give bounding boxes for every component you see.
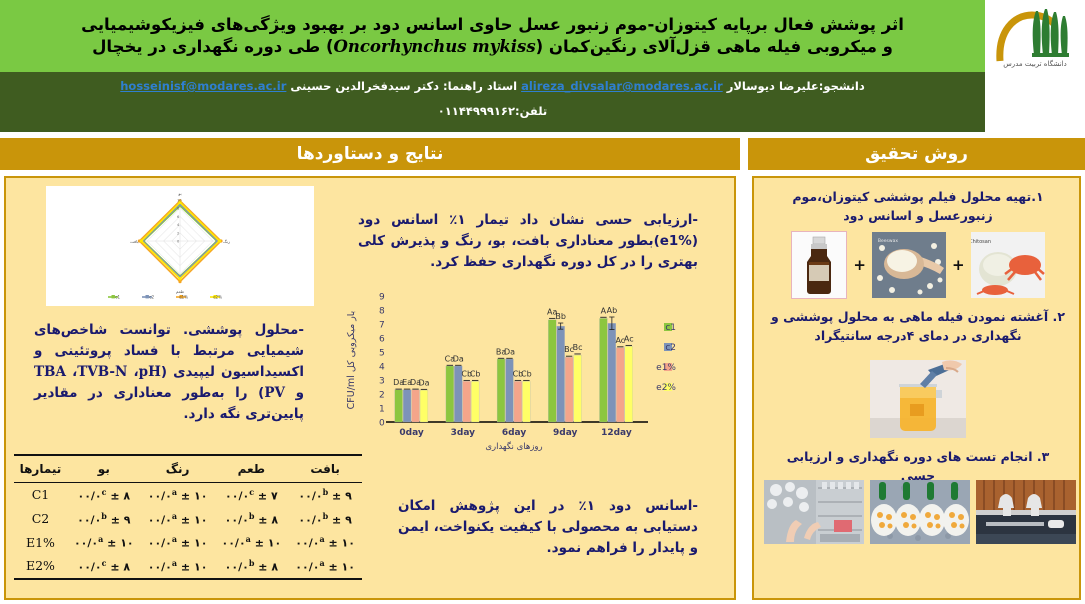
microbial-load-bar-chart: 0123456789 DaEaDaDaCaDaCbCbBaDaCbCbAaBbB… bbox=[342, 286, 734, 466]
cell-treatment: C2 bbox=[14, 507, 67, 531]
svg-text:Chitosan: Chitosan bbox=[971, 239, 991, 245]
chem-sep-1: ، bbox=[127, 364, 138, 380]
svg-text:c1: c1 bbox=[665, 323, 676, 333]
lab-microbiology-photo bbox=[764, 480, 864, 544]
bar-chart-legend: c1c2e1%e2% bbox=[656, 323, 676, 393]
cell-color: ۱۰ ± ۰۰/۰a bbox=[141, 530, 215, 554]
cell-texture-superscript: a bbox=[319, 534, 324, 544]
cell-taste-superscript: a bbox=[246, 534, 251, 544]
chem-param-tba: TBA bbox=[34, 362, 66, 383]
cell-taste: ۱۰ ± ۰۰/۰a bbox=[214, 530, 288, 554]
sensory-scores-table: بافت طعم رنگ بو تیمارها ۹ ± ۰۰/۰b۷ ± ۰۰/… bbox=[14, 454, 362, 580]
smoke-essence-bottle-photo bbox=[791, 231, 847, 299]
chem-param-pv: PV bbox=[264, 383, 285, 404]
svg-text:2: 2 bbox=[177, 231, 179, 235]
svg-text:Beeswax: Beeswax bbox=[878, 238, 898, 244]
phone-row: تلفن:۰۱۱۴۴۹۹۹۱۶۲ bbox=[0, 104, 985, 118]
cell-odor: ۹ ± ۰۰/۰b bbox=[67, 507, 141, 531]
cell-treatment: C1 bbox=[14, 483, 67, 507]
table-head: بافت طعم رنگ بو تیمارها bbox=[14, 455, 362, 483]
cell-color-superscript: a bbox=[172, 487, 177, 497]
authors-row: دانشجو:علیرضا دیوسالار alireza_divsalar@… bbox=[0, 78, 985, 95]
svg-text:5: 5 bbox=[379, 349, 385, 359]
species-name: Oncorhynchus mykiss bbox=[334, 37, 536, 56]
cell-color-superscript: a bbox=[172, 511, 177, 521]
method-step-1-text: ۱.تهیه محلول فیلم پوششی کیتوزان،موم زنبو… bbox=[768, 188, 1068, 226]
cell-taste-superscript: c bbox=[249, 487, 254, 497]
cell-texture-superscript: b bbox=[323, 487, 329, 497]
cell-treatment: E2% bbox=[14, 554, 67, 579]
svg-text:0: 0 bbox=[177, 240, 180, 244]
student-label: دانشجو:علیرضا دیوسالار bbox=[727, 79, 865, 93]
cell-treatment: E1% bbox=[14, 530, 67, 554]
cell-texture: ۹ ± ۰۰/۰b bbox=[288, 483, 362, 507]
fish-fillet-coating-beaker-photo bbox=[870, 360, 966, 438]
svg-text:طعم: طعم bbox=[176, 289, 185, 294]
chemical-result-text: -محلول پوششی. توانست شاخص‌های شیمیایی مر… bbox=[34, 320, 304, 425]
sensory-radar-chart-card: بورنگطعمبافت 0246810 c1c2e1%e2% bbox=[46, 186, 314, 306]
cell-odor: ۸ ± ۰۰/۰c bbox=[67, 554, 141, 579]
table-body: ۹ ± ۰۰/۰b۷ ± ۰۰/۰c۱۰ ± ۰۰/۰a۸ ± ۰۰/۰cC1۹… bbox=[14, 483, 362, 579]
svg-text:دانشگاه تربیت مدرس: دانشگاه تربیت مدرس bbox=[1003, 59, 1066, 68]
radar-series-group bbox=[138, 199, 223, 283]
svg-text:Cb: Cb bbox=[470, 369, 481, 378]
svg-text:رنگ: رنگ bbox=[223, 239, 230, 244]
supervisor-email-link[interactable]: hosseinisf@modares.ac.ir bbox=[120, 78, 286, 95]
svg-text:9day: 9day bbox=[553, 428, 578, 438]
method-step-2-text: ۲. آغشته نمودن فیله ماهی به محلول پوششی … bbox=[768, 308, 1068, 346]
svg-text:1: 1 bbox=[379, 405, 385, 415]
svg-text:0day: 0day bbox=[399, 428, 424, 438]
svg-text:Bb: Bb bbox=[555, 312, 566, 321]
plus-sign-1: + bbox=[952, 256, 965, 274]
university-logo: دانشگاه تربیت مدرس bbox=[985, 0, 1085, 72]
sensory-result-text: -ارزیابی حسی نشان داد تیمار ۱٪ اسانس دود… bbox=[358, 210, 698, 273]
cell-odor-superscript: c bbox=[102, 558, 107, 568]
svg-text:3: 3 bbox=[379, 377, 385, 387]
chem-param-tvbn: TVB-N bbox=[77, 362, 127, 383]
table-row: ۱۰ ± ۰۰/۰a۱۰ ± ۰۰/۰a۱۰ ± ۰۰/۰a۱۰ ± ۰۰/۰a… bbox=[14, 530, 362, 554]
chem-sep-3: و bbox=[285, 385, 304, 401]
cell-taste: ۸ ± ۰۰/۰b bbox=[214, 507, 288, 531]
svg-text:c2: c2 bbox=[665, 343, 676, 353]
svg-text:Da: Da bbox=[418, 378, 429, 387]
svg-text:Da: Da bbox=[453, 354, 464, 363]
title-line2-pre: و میکروبی فیله ماهی قزل‌آلای رنگین‌کمان … bbox=[536, 37, 893, 56]
method-step-2-images bbox=[768, 358, 1068, 440]
table-header-row: بافت طعم رنگ بو تیمارها bbox=[14, 455, 362, 483]
cell-color: ۱۰ ± ۰۰/۰a bbox=[141, 507, 215, 531]
cell-texture: ۹ ± ۰۰/۰b bbox=[288, 507, 362, 531]
chem-sep-2: ، bbox=[66, 364, 77, 380]
svg-text:7: 7 bbox=[379, 321, 385, 331]
title-line2-post: ) طی دوره نگهداری در یخچال bbox=[92, 37, 333, 56]
svg-text:6: 6 bbox=[379, 335, 385, 345]
radar-legend: c1c2e1%e2% bbox=[108, 295, 222, 300]
microbial-load-bar-chart-container: 0123456789 DaEaDaDaCaDaCbCbBaDaCbCbAaBbB… bbox=[342, 286, 734, 466]
cell-texture-superscript: a bbox=[319, 558, 324, 568]
radar-grid bbox=[139, 200, 221, 282]
svg-text:بو: بو bbox=[177, 191, 181, 196]
svg-text:e1%: e1% bbox=[656, 363, 676, 373]
table-row: ۹ ± ۰۰/۰b۷ ± ۰۰/۰c۱۰ ± ۰۰/۰a۸ ± ۰۰/۰cC1 bbox=[14, 483, 362, 507]
poster-title-line-1: اثر پوشش فعال برپایه کیتوزان-موم زنبور ع… bbox=[81, 14, 904, 36]
svg-text:12day: 12day bbox=[601, 428, 632, 438]
svg-text:0: 0 bbox=[379, 419, 385, 429]
cell-color: ۱۰ ± ۰۰/۰a bbox=[141, 554, 215, 579]
cell-odor: ۸ ± ۰۰/۰c bbox=[67, 483, 141, 507]
svg-text:2: 2 bbox=[379, 391, 385, 401]
storage-test-photo bbox=[976, 480, 1076, 544]
col-header-taste: طعم bbox=[214, 455, 288, 483]
svg-text:Cb: Cb bbox=[521, 369, 532, 378]
cell-texture: ۱۰ ± ۰۰/۰a bbox=[288, 554, 362, 579]
tarbiat-modares-logo-icon: دانشگاه تربیت مدرس bbox=[992, 3, 1078, 69]
research-poster: اثر پوشش فعال برپایه کیتوزان-موم زنبور ع… bbox=[0, 0, 1085, 604]
svg-text:4: 4 bbox=[379, 363, 385, 373]
chem-param-ph: pH bbox=[139, 362, 161, 383]
svg-text:e1%: e1% bbox=[179, 295, 188, 300]
svg-text:Ac: Ac bbox=[624, 334, 634, 343]
supervisor-label: استاد راهنما: دکتر سیدفخرالدین حسینی bbox=[290, 79, 517, 93]
svg-text:c2: c2 bbox=[149, 295, 154, 300]
logo-filler bbox=[985, 72, 1085, 132]
sensory-radar-chart: بورنگطعمبافت 0246810 c1c2e1%e2% bbox=[46, 186, 314, 306]
authors-band: دانشجو:علیرضا دیوسالار alireza_divsalar@… bbox=[0, 72, 985, 132]
poster-title-line-2: و میکروبی فیله ماهی قزل‌آلای رنگین‌کمان … bbox=[92, 36, 893, 58]
cell-taste: ۷ ± ۰۰/۰c bbox=[214, 483, 288, 507]
cell-color-superscript: a bbox=[172, 534, 177, 544]
bar-chart-x-axis-label: روزهای نگهداری bbox=[485, 441, 542, 452]
cell-taste: ۸ ± ۰۰/۰b bbox=[214, 554, 288, 579]
results-panel: بورنگطعمبافت 0246810 c1c2e1%e2% -ارزیابی… bbox=[4, 176, 736, 600]
beeswax-spoon-photo: Beeswax bbox=[872, 232, 946, 298]
section-banner-method: روش تحقیق bbox=[748, 138, 1085, 170]
svg-text:Ab: Ab bbox=[607, 306, 618, 315]
svg-text:e2%: e2% bbox=[656, 383, 676, 393]
bar-chart-significance-labels: DaEaDaDaCaDaCbCbBaDaCbCbAaBbBcBcAAbAcAc bbox=[393, 306, 634, 387]
method-step-3-images bbox=[764, 478, 1076, 546]
svg-text:9: 9 bbox=[379, 293, 385, 303]
col-header-color: رنگ bbox=[141, 455, 215, 483]
chitosan-powder-photo: Chitosan bbox=[971, 232, 1045, 298]
table-row: ۹ ± ۰۰/۰b۸ ± ۰۰/۰b۱۰ ± ۰۰/۰a۹ ± ۰۰/۰bC2 bbox=[14, 507, 362, 531]
cell-taste-superscript: b bbox=[249, 558, 255, 568]
cell-color: ۱۰ ± ۰۰/۰a bbox=[141, 483, 215, 507]
table-row: ۱۰ ± ۰۰/۰a۸ ± ۰۰/۰b۱۰ ± ۰۰/۰a۸ ± ۰۰/۰cE2… bbox=[14, 554, 362, 579]
svg-text:e2%: e2% bbox=[213, 295, 222, 300]
col-header-odor: بو bbox=[67, 455, 141, 483]
col-header-treatments: تیمارها bbox=[14, 455, 67, 483]
cell-odor-superscript: b bbox=[101, 511, 107, 521]
cell-color-superscript: a bbox=[172, 558, 177, 568]
student-email-link[interactable]: alireza_divsalar@modares.ac.ir bbox=[521, 78, 723, 95]
cell-odor: ۱۰ ± ۰۰/۰a bbox=[67, 530, 141, 554]
sensory-evaluation-plates-photo bbox=[870, 480, 970, 544]
svg-text:Bc: Bc bbox=[573, 343, 583, 352]
cell-odor-superscript: c bbox=[102, 487, 107, 497]
col-header-texture: بافت bbox=[288, 455, 362, 483]
svg-text:3day: 3day bbox=[451, 428, 476, 438]
cell-odor-superscript: a bbox=[98, 534, 103, 544]
method-step-1-images: Chitosan + Beeswax bbox=[768, 230, 1068, 300]
section-banner-results: نتایج و دستاوردها bbox=[0, 138, 740, 170]
svg-text:8: 8 bbox=[379, 307, 385, 317]
bar-chart-x-axis: 0day3day6day9day12day bbox=[399, 428, 631, 438]
svg-text:6day: 6day bbox=[502, 428, 527, 438]
svg-text:بافت: بافت bbox=[130, 239, 139, 244]
svg-text:10: 10 bbox=[177, 199, 182, 203]
poster-title-band: اثر پوشش فعال برپایه کیتوزان-موم زنبور ع… bbox=[0, 0, 985, 72]
cell-taste-superscript: b bbox=[249, 511, 255, 521]
cell-texture: ۱۰ ± ۰۰/۰a bbox=[288, 530, 362, 554]
bar-chart-y-axis-label: بار میکروبی کل CFU/ml bbox=[346, 311, 357, 410]
method-panel: ۱.تهیه محلول فیلم پوششی کیتوزان،موم زنبو… bbox=[752, 176, 1081, 600]
svg-text:c1: c1 bbox=[115, 295, 120, 300]
conclusion-text: -اسانس دود ۱٪ در این پژوهش امکان دستیابی… bbox=[398, 496, 698, 559]
plus-sign-2: + bbox=[853, 256, 866, 274]
cell-texture-superscript: b bbox=[323, 511, 329, 521]
svg-text:Da: Da bbox=[504, 347, 515, 356]
